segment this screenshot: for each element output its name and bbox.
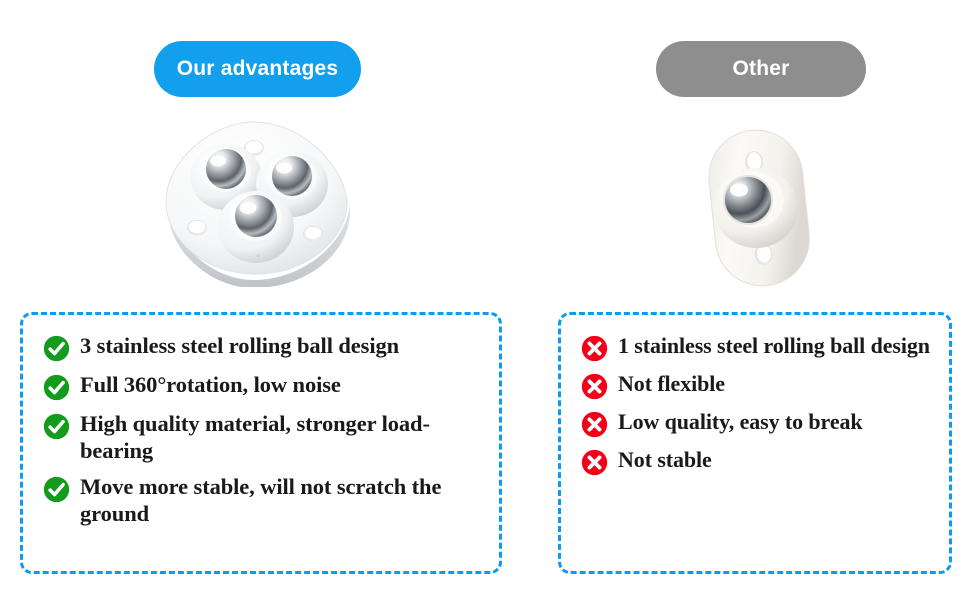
list-item: Not flexible (581, 370, 939, 400)
list-item: 3 stainless steel rolling ball design (43, 332, 489, 362)
product-image-three-ball-caster (150, 112, 370, 287)
list-item: High quality material, stronger load-bea… (43, 410, 489, 464)
advantages-list: 3 stainless steel rolling ball design Fu… (23, 315, 499, 536)
x-circle-icon (581, 335, 608, 362)
list-item-text: 1 stainless steel rolling ball design (618, 332, 930, 359)
list-item-text: Not flexible (618, 370, 725, 397)
header-pill-our-advantages: Our advantages (154, 41, 361, 97)
other-comparison-box: 1 stainless steel rolling ball design No… (558, 312, 952, 574)
list-item: Move more stable, will not scratch the g… (43, 473, 489, 527)
other-list: 1 stainless steel rolling ball design No… (561, 315, 949, 484)
check-circle-icon (43, 413, 70, 440)
advantages-comparison-box: 3 stainless steel rolling ball design Fu… (20, 312, 502, 574)
check-circle-icon (43, 335, 70, 362)
check-circle-icon (43, 476, 70, 503)
list-item: Not stable (581, 446, 939, 476)
check-circle-icon (43, 374, 70, 401)
x-circle-icon (581, 449, 608, 476)
header-pill-other: Other (656, 41, 866, 97)
list-item-text: Not stable (618, 446, 712, 473)
list-item: 1 stainless steel rolling ball design (581, 332, 939, 362)
list-item-text: High quality material, stronger load-bea… (80, 410, 489, 464)
list-item-text: Low quality, easy to break (618, 408, 863, 435)
list-item: Full 360°rotation, low noise (43, 371, 489, 401)
list-item-text: Full 360°rotation, low noise (80, 371, 341, 398)
list-item-text: 3 stainless steel rolling ball design (80, 332, 399, 359)
list-item: Low quality, easy to break (581, 408, 939, 438)
x-circle-icon (581, 373, 608, 400)
list-item-text: Move more stable, will not scratch the g… (80, 473, 489, 527)
header-pill-our-advantages-label: Our advantages (177, 57, 339, 81)
header-pill-other-label: Other (732, 57, 789, 81)
x-circle-icon (581, 411, 608, 438)
product-image-single-ball-caster (684, 122, 834, 292)
